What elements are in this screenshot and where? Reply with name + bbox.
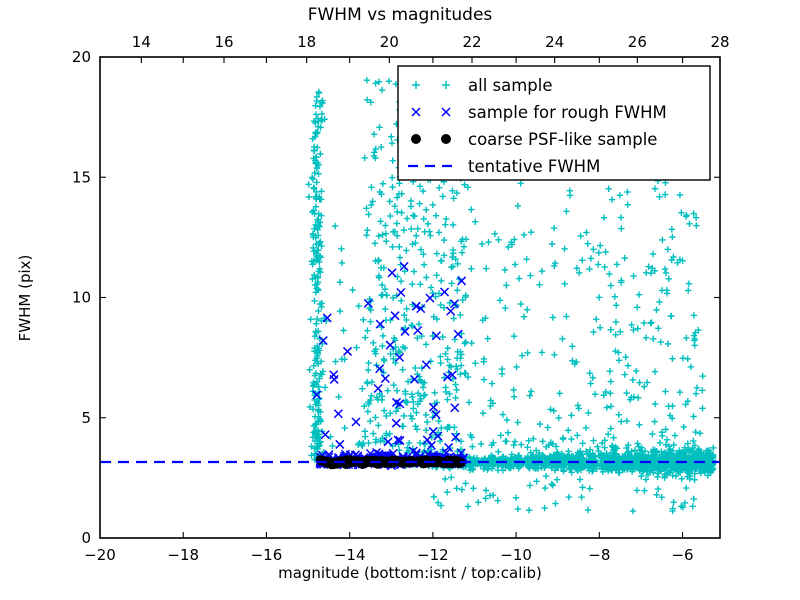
legend-label: coarse PSF-like sample [468,130,657,149]
chart-title: FWHM vs magnitudes [308,5,493,25]
y-tick-label: 0 [81,529,91,547]
x-tick-label: −12 [417,546,449,564]
legend-label: sample for rough FWHM [468,103,667,122]
x-tick-label: −14 [334,546,366,564]
top-tick-label: 26 [628,33,647,51]
chart-legend[interactable]: all samplesample for rough FWHMcoarse PS… [398,66,710,180]
dot-icon [411,134,421,144]
top-tick-label: 18 [297,33,316,51]
dot-icon [441,134,451,144]
x-tick-label: −18 [167,546,199,564]
x-tick-label: −20 [84,546,116,564]
top-tick-label: 16 [214,33,233,51]
x-axis-label: magnitude (bottom:isnt / top:calib) [278,564,542,582]
legend-label: all sample [468,76,553,95]
y-tick-label: 5 [81,409,91,427]
x-tick-label: −6 [671,546,693,564]
top-tick-label: 20 [380,33,399,51]
scatter-plot: FWHM vs magnitudes −20−18−16−14−12−10−8−… [0,0,800,600]
top-tick-label: 24 [545,33,564,51]
x-tick-label: −16 [251,546,283,564]
y-tick-label: 10 [72,289,91,307]
legend-label: tentative FWHM [468,157,600,176]
figure-canvas: FWHM vs magnitudes −20−18−16−14−12−10−8−… [0,0,800,600]
x-tick-label: −8 [588,546,610,564]
top-tick-label: 22 [462,33,481,51]
x-tick-label: −10 [500,546,532,564]
top-tick-label: 28 [710,33,729,51]
data-point-dot [316,455,326,465]
top-tick-label: 14 [132,33,151,51]
y-tick-label: 15 [72,168,91,186]
y-axis-label: FWHM (pix) [16,255,34,342]
y-tick-label: 20 [72,48,91,66]
